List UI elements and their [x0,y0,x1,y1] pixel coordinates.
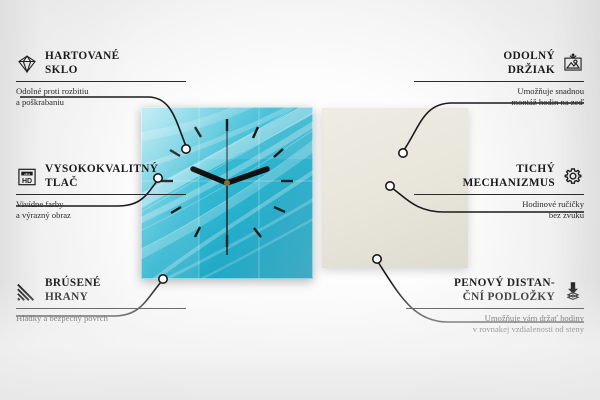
gear-icon [562,166,584,188]
hd-label: HD [22,177,32,184]
divider [16,194,186,195]
feature-title: BRÚSENÉHRANY [45,277,186,304]
feature-title: VYSOKOKVALITNÝTLAČ [45,163,186,190]
diamond-icon [16,53,38,75]
down-arrow-stack-icon [562,280,584,302]
feature-hardened-glass: HARTOVANÉSKLO Odolné proti rozbitiua poš… [16,50,186,107]
feature-title: HARTOVANÉSKLO [45,50,186,77]
picture-frame-icon [562,53,584,75]
feature-subtitle: Odolné proti rozbitiua poškrabaniu [16,86,186,107]
feature-silent-mechanism: TICHÝMECHANIZMUS Hodinové ručičkybez zvu… [414,163,584,220]
feature-polished-edges: BRÚSENÉHRANY Hladký a bezpečný povrch [16,277,186,324]
ultra-hd-icon: ultra HD [16,166,38,188]
divider [406,308,584,309]
feature-durable-hanger: ODOLNÝDRŽIAK Umožňuje snadnoumontáž hodi… [414,50,584,107]
feature-title: TICHÝMECHANIZMUS [414,163,555,190]
divider [414,194,584,195]
divider [414,81,584,82]
ultra-label: ultra [24,171,30,175]
feature-title: ODOLNÝDRŽIAK [414,50,555,77]
feature-subtitle: Vivídne farbya výrazný obraz [16,199,186,220]
feature-subtitle: Umožňuje vám držať hodinyv rovnakej vzdi… [406,313,584,334]
divider [16,81,186,82]
feature-subtitle: Hladký a bezpečný povrch [16,313,186,324]
feature-foam-spacers: PENOVÝ DISTAN-ČNÍ PODLOŽKY Umožňuje vám … [406,277,584,334]
feature-title: PENOVÝ DISTAN-ČNÍ PODLOŽKY [406,277,555,304]
diagonal-stripes-icon [16,280,38,302]
product-infographic: HARTOVANÉSKLO Odolné proti rozbitiua poš… [0,0,600,400]
feature-high-quality-print: ultra HD VYSOKOKVALITNÝTLAČ Vivídne farb… [16,163,186,220]
feature-subtitle: Umožňuje snadnoumontáž hodin na zeď [414,86,584,107]
divider [16,308,186,309]
feature-subtitle: Hodinové ručičkybez zvuku [414,199,584,220]
